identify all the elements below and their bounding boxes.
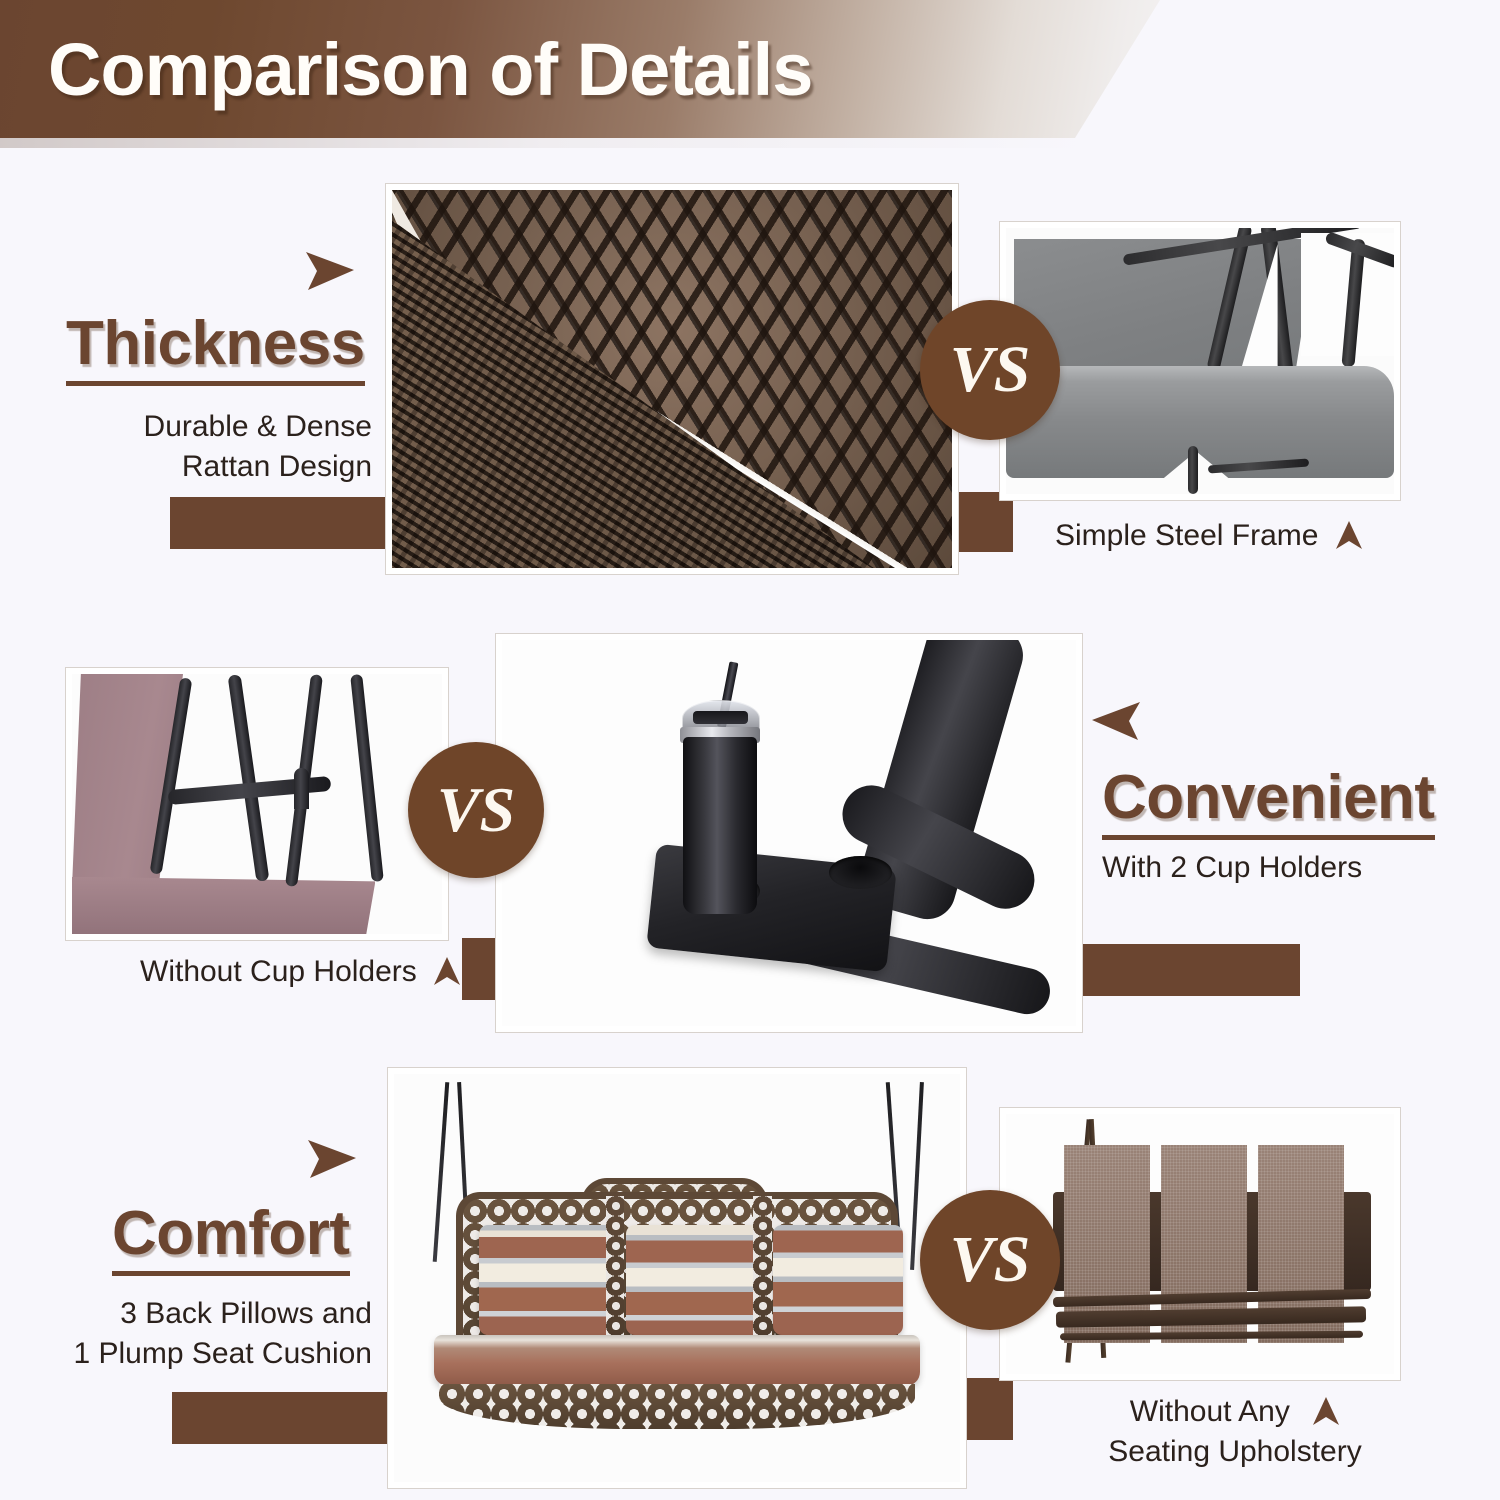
photo-cup-holder-tray [496,634,1082,1032]
vs-badge-2: VS [408,742,544,878]
subline-line-1: With 2 Cup Holders [1102,848,1362,888]
vs-badge-1: VS [920,300,1060,440]
headline-comfort: Comfort [112,1198,350,1276]
vs-label: VS [950,1227,1031,1293]
photo-gray-fabric-seat [1000,222,1400,500]
caption-text: Simple Steel Frame [1055,519,1318,552]
caption-without-cup-holders: Without Cup Holders [140,952,461,992]
back-pillow-2 [626,1225,762,1335]
photo-rattan-swing-pillows [388,1068,966,1488]
back-pillow-1 [479,1225,615,1335]
accent-bar-right-2 [1072,944,1300,996]
caption-line-1: Without Any [1070,1392,1400,1432]
subline-line-1: Durable & Dense [0,407,372,447]
caption-line-2: Seating Upholstery [1070,1432,1400,1472]
headline-thickness: Thickness [66,308,365,386]
caption-text: Without Cup Holders [140,955,417,988]
triangle-right-icon-1 [300,250,356,292]
header-banner-shadow [0,138,1090,148]
subline-line-1: 3 Back Pillows and [0,1294,372,1334]
accent-bar-left-3 [172,1392,404,1444]
photo-bare-sling-bench [1000,1108,1400,1380]
vs-badge-3: VS [920,1190,1060,1330]
triangle-up-icon-3 [1312,1396,1340,1426]
subline-comfort: 3 Back Pillows and 1 Plump Seat Cushion [0,1294,372,1374]
caption-simple-steel-frame: Simple Steel Frame [1055,516,1363,556]
triangle-left-icon-2 [1090,700,1146,742]
accent-bar-left-1 [170,497,402,549]
page-title: Comparison of Details [48,27,812,112]
triangle-right-icon-3 [302,1138,358,1180]
headline-convenient: Convenient [1102,762,1435,840]
subline-line-2: 1 Plump Seat Cushion [0,1334,372,1374]
triangle-up-icon-2 [433,956,461,986]
photo-rattan-weave [386,184,958,574]
vs-label: VS [437,778,515,842]
caption-text-1: Without Any [1130,1395,1290,1428]
photo-mauve-cushion-frame [66,668,448,940]
subline-line-2: Rattan Design [0,447,372,487]
infographic-page: Comparison of Details [0,0,1500,1500]
vs-label: VS [950,337,1031,403]
accent-bar-right-1 [955,492,1013,552]
caption-without-upholstery: Without Any Seating Upholstery [1070,1392,1400,1472]
subline-convenient: With 2 Cup Holders [1102,848,1362,888]
subline-thickness: Durable & Dense Rattan Design [0,407,372,487]
triangle-up-icon-1 [1335,520,1363,550]
back-pillow-3 [773,1225,903,1335]
